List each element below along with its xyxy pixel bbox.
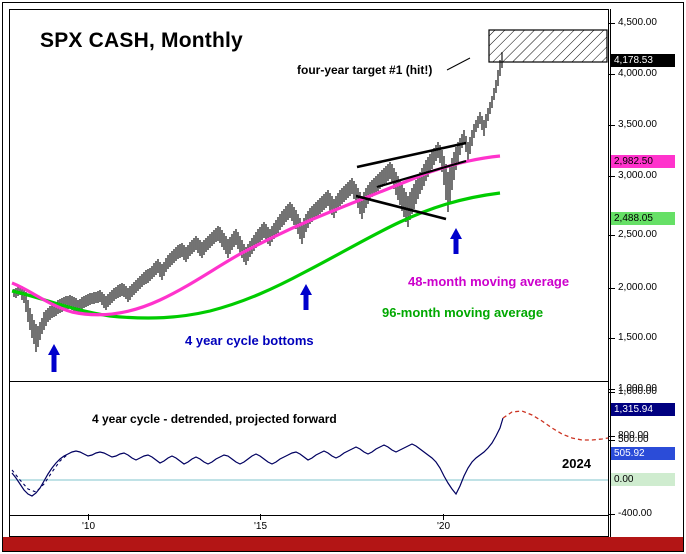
y-tick-label: 3,500.00 bbox=[618, 119, 657, 130]
y-tick-label: 3,000.00 bbox=[618, 170, 657, 181]
x-tick-label: '10 bbox=[82, 521, 95, 532]
annotation-cycle-bottoms: 4 year cycle bottoms bbox=[185, 333, 314, 348]
annotation-year-2024: 2024 bbox=[562, 456, 591, 471]
x-tick-label: '15 bbox=[254, 521, 267, 532]
y-tick-3500: 3,500.00 bbox=[618, 119, 657, 130]
value-box-cycle-projected: 505.92 bbox=[611, 447, 675, 460]
y-tick-1500: 1,500.00 bbox=[618, 332, 657, 343]
annotation-detrended: 4 year cycle - detrended, projected forw… bbox=[92, 412, 337, 426]
x-tick-2015: '15 bbox=[254, 521, 267, 532]
y-tick-3000: 3,000.00 bbox=[618, 170, 657, 181]
y-tick-label: 1,500.00 bbox=[618, 332, 657, 343]
value-box-ma48: 2,982.50 bbox=[611, 155, 675, 168]
annotation-ma96-label: 96-month moving average bbox=[382, 305, 543, 320]
y-tick-4500: 4,500.00 bbox=[618, 17, 657, 28]
annotation-ma48-label: 48-month moving average bbox=[408, 274, 569, 289]
x-tick-2010: '10 bbox=[82, 521, 95, 532]
y-tick-label: 4,500.00 bbox=[618, 17, 657, 28]
chart-root: SPX CASH, Monthly bbox=[0, 0, 686, 554]
cycle-tick-label: -400.00 bbox=[618, 508, 652, 519]
y-tick-2500: 2,500.00 bbox=[618, 229, 657, 240]
y-tick-2000: 2,000.00 bbox=[618, 282, 657, 293]
cycle-tick-neg400: -400.00 bbox=[618, 508, 652, 519]
value-box-cycle-zero: 0.00 bbox=[611, 473, 675, 486]
annotation-four-year-target: four-year target #1 (hit!) bbox=[297, 63, 432, 77]
value-box-ma96: 2,488.05 bbox=[611, 212, 675, 225]
chart-title: SPX CASH, Monthly bbox=[40, 29, 243, 53]
footer-bar bbox=[3, 537, 683, 551]
y-tick-4000: 4,000.00 bbox=[618, 68, 657, 79]
x-tick-2020: '20 bbox=[437, 521, 450, 532]
y-tick-label: 4,000.00 bbox=[618, 68, 657, 79]
x-tick-label: '20 bbox=[437, 521, 450, 532]
value-box-last-price: 4,178.53 bbox=[611, 54, 675, 67]
cycle-tick-800: 800.00 bbox=[618, 430, 649, 441]
cycle-tick-label: 800.00 bbox=[618, 430, 649, 441]
value-box-cycle: 1,315.94 bbox=[611, 403, 675, 416]
y-tick-label: 2,500.00 bbox=[618, 229, 657, 240]
bottom-axis-strip bbox=[9, 515, 609, 537]
cycle-tick-label: 1,600.00 bbox=[618, 386, 657, 397]
y-tick-label: 2,000.00 bbox=[618, 282, 657, 293]
cycle-tick-1600: 1,600.00 bbox=[618, 386, 657, 397]
cycle-pane-divider bbox=[9, 381, 609, 515]
